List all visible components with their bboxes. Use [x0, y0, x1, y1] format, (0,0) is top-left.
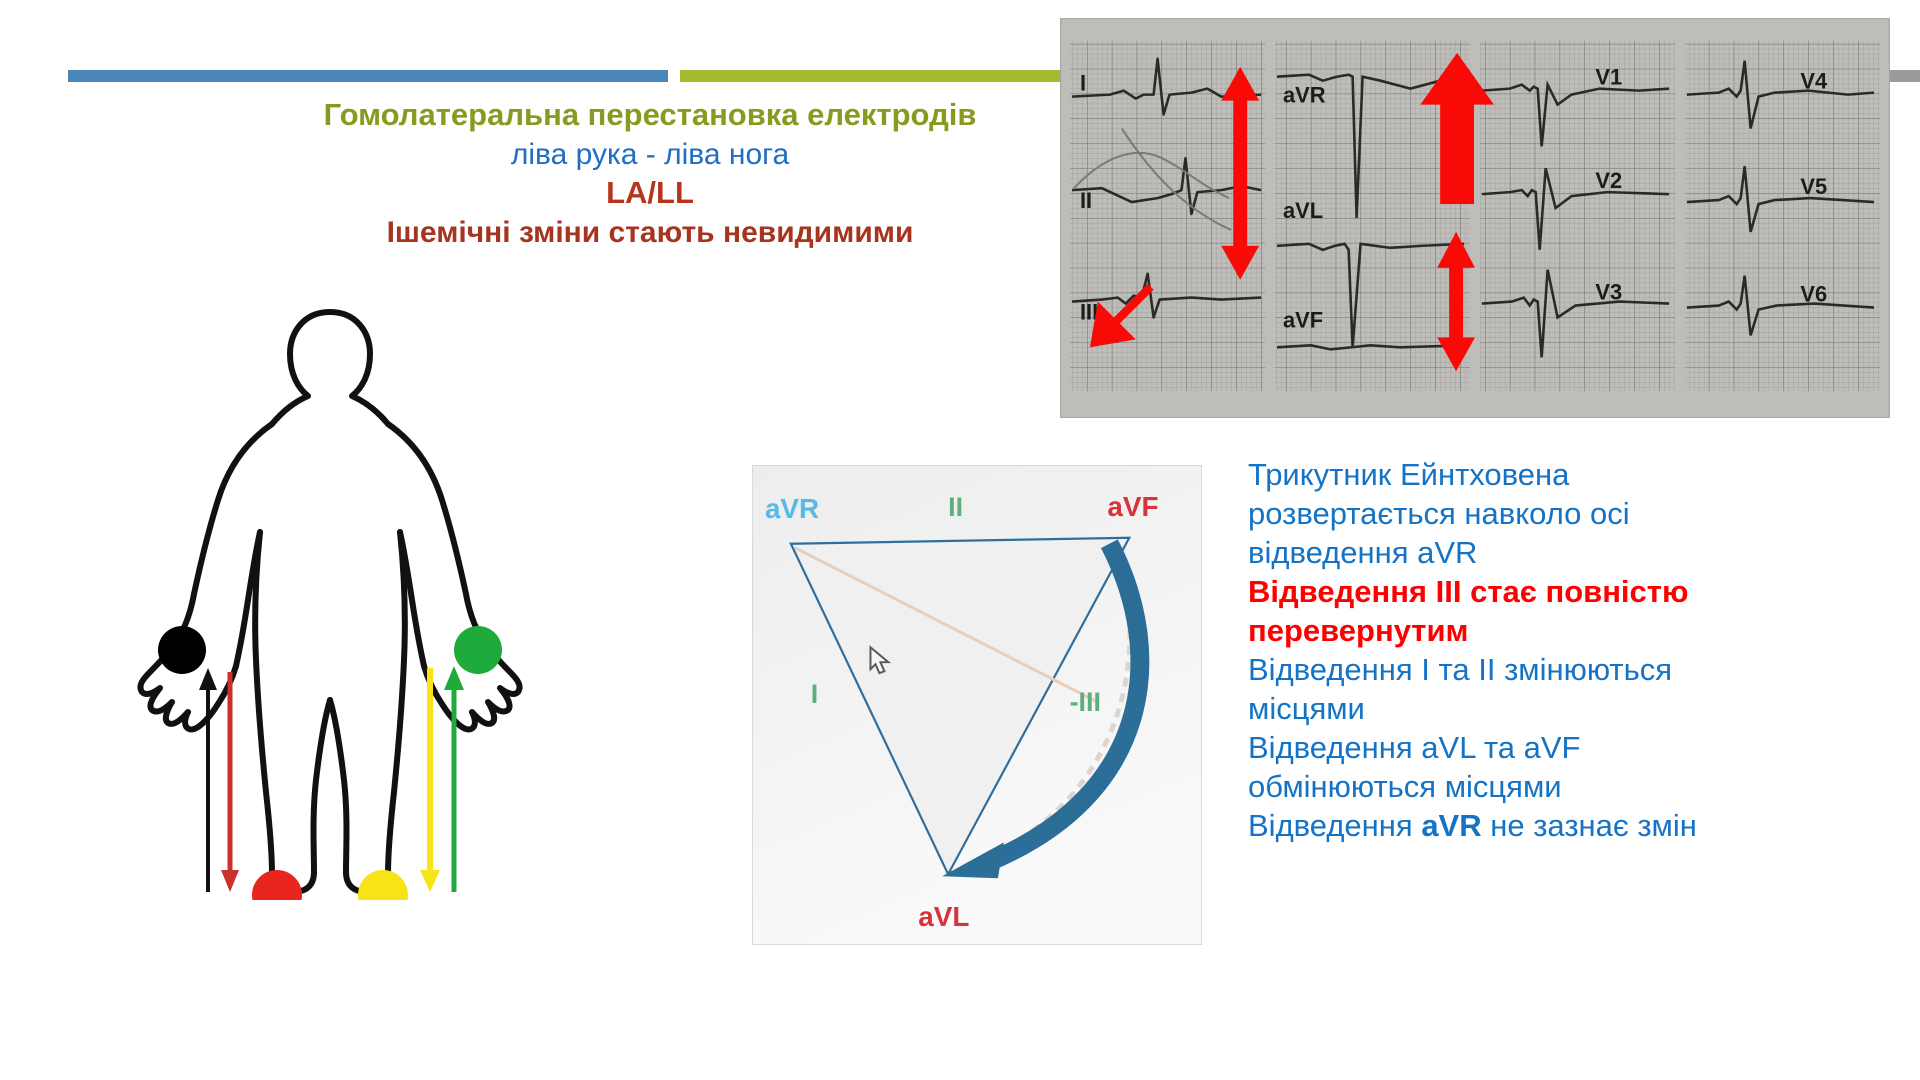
body-figure	[120, 300, 540, 900]
triangle-label-lead-minus-iii: -III	[1070, 687, 1101, 717]
title-subtitle: ліва рука - ліва нога	[240, 135, 1060, 174]
explanation-line-9: обмінюються місцями	[1248, 767, 1848, 806]
title-conclusion: Ішемічні зміни стають невидимими	[240, 213, 1060, 252]
explanation-line-10: Відведення aVR не зазнає змін	[1248, 806, 1848, 845]
explanation-text-block: Трикутник Ейнтховена розвертається навко…	[1248, 455, 1848, 845]
explanation-line-6: Відведення I та II змінюються	[1248, 650, 1848, 689]
triangle-label-avr: aVR	[765, 493, 819, 524]
left-arm-electrode	[454, 626, 502, 674]
ecg-lead-label-V3: V3	[1595, 280, 1622, 305]
red-arrow-down	[221, 672, 239, 892]
ecg-lead-label-II: II	[1080, 188, 1092, 213]
ecg-lead-label-aVF: aVF	[1283, 307, 1323, 332]
ecg-lead-label-V1: V1	[1595, 65, 1622, 90]
explanation-line-8: Відведення aVL та aVF	[1248, 728, 1848, 767]
ecg-lead-label-aVL: aVL	[1283, 198, 1323, 223]
triangle-label-lead-i: I	[811, 679, 818, 709]
right-leg-electrode	[252, 870, 302, 900]
einthoven-triangle-diagram: aVR II aVF I -III aVL	[752, 465, 1202, 945]
explanation-line-7: місцями	[1248, 689, 1848, 728]
ecg-lead-label-V5: V5	[1800, 174, 1827, 199]
triangle-label-avf: aVF	[1107, 491, 1158, 522]
explanation-line-10-lead: aVR	[1421, 808, 1481, 843]
ecg-lead-label-V6: V6	[1800, 282, 1827, 307]
page-title: Гомолатеральна перестановка електродів	[240, 96, 1060, 135]
header-bar-blue	[68, 70, 668, 82]
slide-root: Гомолатеральна перестановка електродів л…	[0, 0, 1920, 1080]
triangle-label-lead-ii: II	[948, 492, 963, 522]
triangle-label-avl: aVL	[918, 901, 969, 932]
green-arrow-up	[444, 666, 464, 892]
ecg-lead-label-aVR: aVR	[1283, 83, 1326, 108]
ecg-lead-label-V4: V4	[1800, 69, 1828, 94]
title-lead-code: LA/LL	[240, 174, 1060, 213]
body-silhouette-outline	[140, 312, 519, 898]
explanation-line-10-prefix: Відведення	[1248, 808, 1421, 843]
explanation-line-5-emphasis: перевернутим	[1248, 611, 1848, 650]
left-leg-electrode	[358, 870, 408, 900]
title-block: Гомолатеральна перестановка електродів л…	[240, 96, 1060, 252]
explanation-line-2: розвертається навколо осі	[1248, 494, 1848, 533]
ecg-lead-label-V2: V2	[1595, 168, 1622, 193]
black-arrow-up	[199, 668, 217, 892]
right-arm-electrode	[158, 626, 206, 674]
explanation-line-1: Трикутник Ейнтховена	[1248, 455, 1848, 494]
explanation-line-3: відведення aVR	[1248, 533, 1848, 572]
ecg-strip-photo: I II III aVR aVL aVF	[1060, 18, 1890, 418]
ecg-lead-label-I: I	[1080, 71, 1086, 96]
explanation-line-4-emphasis: Відведення III стає повністю	[1248, 572, 1848, 611]
explanation-line-10-suffix: не зазнає змін	[1482, 808, 1697, 843]
